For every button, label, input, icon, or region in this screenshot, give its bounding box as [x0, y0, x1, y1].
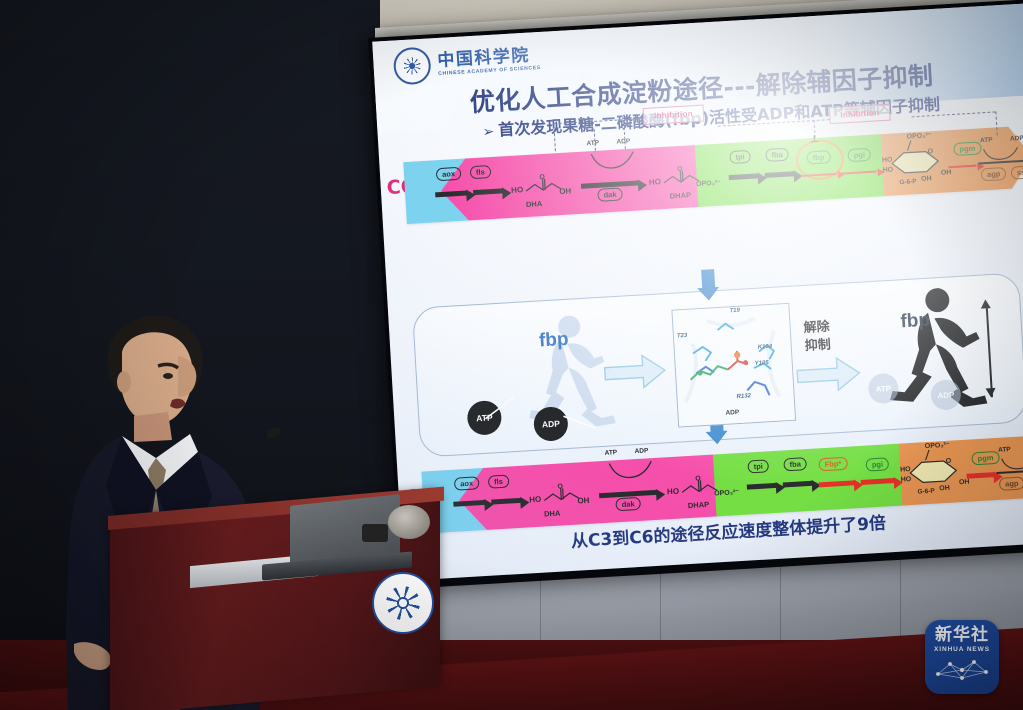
metabolite-dhap-bottom: DHAP: [688, 501, 710, 510]
photo-scene: 中国科学院 CHINESE ACADEMY OF SCIENCES 优化人工合成…: [0, 0, 1023, 710]
network-graphic-icon: [934, 656, 990, 682]
relief-label-line1: 解除: [796, 320, 837, 336]
metabolite-g6p-bottom: G-6-P: [917, 489, 935, 497]
svg-text:HO: HO: [900, 466, 911, 474]
cofactor-adp-bottom-1: ADP: [634, 448, 648, 455]
enzyme-tpi-top: tpi: [729, 150, 751, 164]
slide-surface: 中国科学院 CHINESE ACADEMY OF SCIENCES 优化人工合成…: [372, 4, 1023, 581]
xinhua-news-watermark: 新华社 XINHUA NEWS: [925, 620, 999, 694]
cas-emblem-icon: [393, 46, 432, 85]
molecule-g6p-bottom: OPO₃²⁻ HO HO O OH OH: [898, 437, 975, 493]
svg-text:HO: HO: [667, 487, 680, 497]
svg-text:OPO₃²⁻: OPO₃²⁻: [907, 132, 932, 140]
svg-text:OPO₃²⁻: OPO₃²⁻: [696, 180, 721, 188]
svg-text:O: O: [927, 148, 933, 155]
residue-label-t19: T19: [729, 308, 740, 315]
enzyme-fls-top: fls: [470, 165, 491, 179]
molecule-dhap-top: HO O OPO₃²⁻: [648, 163, 725, 193]
residue-label-t23: T23: [677, 333, 688, 340]
svg-text:OH: OH: [941, 169, 952, 177]
enzyme-dak-bottom: dak: [615, 497, 641, 511]
molecule-dha-bottom: HO O OH: [528, 482, 591, 512]
ligand-label-adp: ADP: [725, 410, 739, 417]
svg-text:OPO₃²⁻: OPO₃²⁻: [925, 442, 950, 450]
svg-text:HO: HO: [529, 495, 542, 505]
svg-text:O: O: [539, 174, 545, 181]
bullet-marker-icon: ➢: [482, 124, 495, 141]
enzyme-aox-top: aox: [436, 167, 462, 181]
watermark-english: XINHUA NEWS: [934, 646, 990, 653]
inset-left-fbp-label: fbp: [538, 330, 569, 351]
cofactor-adp-top-2: ADP: [1010, 136, 1023, 143]
cofactor-atp-bottom-1: ATP: [605, 450, 618, 457]
molecule-dhap-bottom: HO O OPO₃²⁻: [666, 473, 743, 503]
residue-label-r132: R132: [736, 393, 751, 400]
residue-label-k104: K104: [758, 344, 773, 351]
svg-text:O: O: [946, 458, 952, 465]
svg-text:O: O: [557, 483, 563, 490]
furry-windscreen-microphone: [388, 505, 430, 539]
enzyme-pgi-top: pgi: [847, 148, 871, 162]
svg-text:HO: HO: [882, 157, 893, 165]
cofactor-atp-top-2: ATP: [980, 138, 993, 145]
cofactor-atp-top-1: ATP: [586, 141, 599, 148]
flow-arrow-in-head: [697, 287, 720, 301]
inhibition-tee-icon: ⊥: [809, 135, 819, 146]
enzyme-dak-top: dak: [597, 187, 623, 201]
svg-text:OH: OH: [559, 186, 572, 196]
svg-text:OH: OH: [577, 496, 590, 506]
inset-right-fbp-label: fbp: [900, 311, 931, 332]
svg-text:O: O: [695, 475, 701, 482]
enzyme-pgi-bottom: pgi: [865, 457, 889, 471]
enzyme-fbp-star-bottom: Fbp*: [818, 457, 847, 471]
svg-text:OPO₃²⁻: OPO₃²⁻: [714, 489, 739, 497]
metabolite-g6p-top: G-6-P: [899, 179, 917, 187]
relief-label-line2: 抑制: [797, 338, 838, 354]
enzyme-ss-top: ss: [1011, 165, 1023, 179]
molecule-dha-top: HO O OH: [510, 172, 573, 202]
metabolite-dha-bottom: DHA: [544, 510, 561, 518]
enzyme-agp-bottom: agp: [999, 476, 1023, 490]
transition-arrow-2-icon: [794, 353, 863, 402]
handheld-microphone: [362, 524, 388, 542]
enzyme-tpi-bottom: tpi: [747, 459, 769, 473]
enzyme-fls-bottom: fls: [488, 475, 509, 489]
svg-text:HO: HO: [649, 177, 662, 187]
svg-text:O: O: [677, 166, 683, 173]
inhibition-box-1: Inhibition: [643, 105, 705, 126]
metabolite-dha-top: DHA: [526, 200, 543, 208]
enzyme-aox-bottom: aox: [454, 476, 480, 490]
transition-arrow-1-icon: [602, 350, 669, 399]
svg-text:HO: HO: [901, 476, 912, 484]
svg-text:HO: HO: [511, 185, 524, 195]
inhibition-box-2: Inhibition: [829, 104, 891, 125]
molecule-g6p-top: OPO₃²⁻ HO HO O OH OH: [880, 128, 957, 184]
cofactor-atp-bottom-2: ATP: [998, 447, 1011, 454]
podium-cas-emblem-icon: [372, 572, 434, 634]
projection-screen: 中国科学院 CHINESE ACADEMY OF SCIENCES 优化人工合成…: [368, 0, 1023, 597]
enzyme-fba-bottom: fba: [783, 457, 807, 471]
watermark-chinese: 新华社: [935, 627, 989, 644]
enzyme-fba-top: fba: [765, 148, 789, 162]
svg-text:HO: HO: [882, 167, 893, 175]
svg-text:OH: OH: [959, 479, 970, 487]
cofactor-curve-top-1: [585, 150, 642, 173]
enzyme-fbp-top: fbp: [806, 150, 830, 164]
residue-label-y105: Y105: [755, 360, 769, 367]
enzyme-agp-top: agp: [981, 167, 1007, 181]
metabolite-dhap-top: DHAP: [670, 191, 692, 200]
